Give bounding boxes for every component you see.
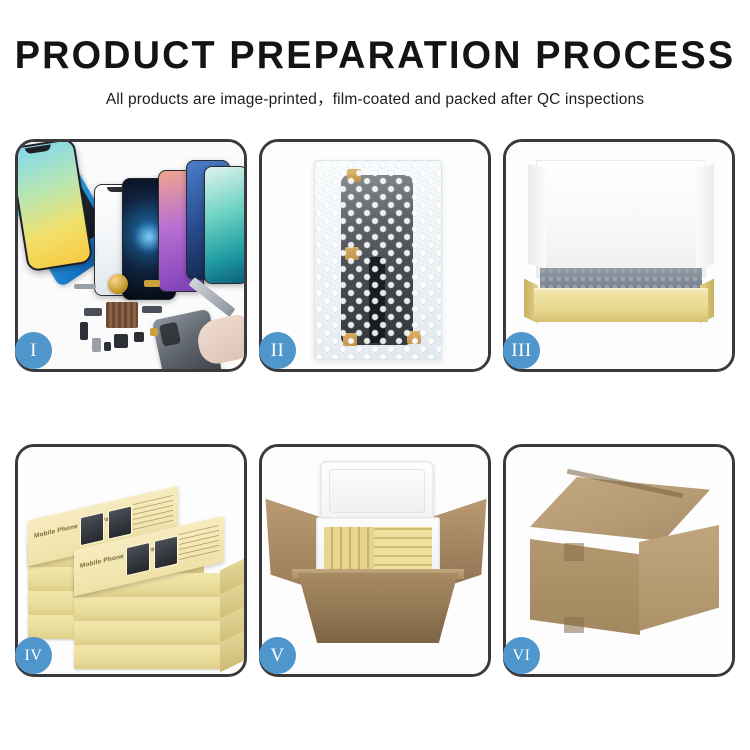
bubble-wrap-bag-icon: [314, 160, 442, 360]
yellow-box-base-icon: [534, 292, 708, 322]
tape-strip-icon: [564, 617, 584, 633]
open-mailer-box-with-foam-scene: [506, 142, 732, 369]
retail-box-label: Mobile Phone Spare Parts: [80, 544, 164, 570]
stacked-retail-boxes-scene: Mobile Phone Spare Parts Mobile Phone Sp…: [18, 447, 244, 674]
bubble-wrapped-screen-scene: [262, 142, 488, 369]
white-foam-box-lid-icon: [320, 461, 434, 523]
step-1-image: [18, 142, 244, 369]
sealed-shipping-carton-scene: [506, 447, 732, 674]
spare-part-icon: [92, 338, 101, 352]
spare-part-icon: [142, 306, 162, 313]
header: PRODUCT PREPARATION PROCESS All products…: [0, 0, 750, 109]
spare-part-icon: [104, 342, 111, 351]
copper-coil-icon: [108, 274, 128, 294]
bubble-texture: [315, 161, 441, 359]
process-step-card-3[interactable]: III: [503, 139, 735, 372]
tape-strip-icon: [564, 543, 584, 561]
step-badge-6: VI: [503, 637, 540, 674]
spare-part-icon: [114, 334, 128, 348]
process-step-grid: I II: [15, 139, 735, 677]
process-step-card-2[interactable]: II: [259, 139, 491, 372]
step-badge-1: I: [15, 332, 52, 369]
spare-part-icon: [74, 284, 96, 289]
step-2-image: [262, 142, 488, 369]
retail-box-label: Mobile Phone Spare Parts: [34, 514, 118, 540]
carton-left-panel-icon: [530, 539, 640, 635]
spare-part-icon: [144, 280, 160, 287]
step-badge-4: IV: [15, 637, 52, 674]
carton-top-panel-icon: [530, 477, 710, 541]
brown-carton-icon: [298, 573, 458, 643]
teal-gradient-phone-icon: [204, 166, 244, 284]
chip-grid-icon: [106, 302, 138, 328]
spare-part-icon: [84, 308, 102, 316]
process-step-card-4[interactable]: Mobile Phone Spare Parts Mobile Phone Sp…: [15, 444, 247, 677]
step-5-image: [262, 447, 488, 674]
step-6-image: [506, 447, 732, 674]
step-badge-2: II: [259, 332, 296, 369]
carton-right-panel-icon: [639, 525, 719, 631]
step-3-image: [506, 142, 732, 369]
process-step-card-6[interactable]: VI: [503, 444, 735, 677]
white-box-lid-icon: [536, 160, 706, 278]
phone-screens-and-spare-parts-scene: [18, 142, 244, 369]
page-title: PRODUCT PREPARATION PROCESS: [11, 36, 739, 77]
step-badge-5: V: [259, 637, 296, 674]
process-step-card-5[interactable]: V: [259, 444, 491, 677]
retail-box-stack: Mobile Phone Spare Parts Mobile Phone Sp…: [28, 469, 240, 659]
spare-part-icon: [150, 328, 158, 336]
carton-with-foam-box-scene: [262, 447, 488, 674]
process-step-card-1[interactable]: I: [15, 139, 247, 372]
spare-part-icon: [134, 332, 144, 342]
spare-part-icon: [80, 322, 88, 340]
page-subtitle: All products are image-printed，film-coat…: [0, 87, 750, 109]
step-badge-3: III: [503, 332, 540, 369]
step-4-image: Mobile Phone Spare Parts Mobile Phone Sp…: [18, 447, 244, 674]
yellow-boxes-inside-icon: [374, 527, 432, 573]
